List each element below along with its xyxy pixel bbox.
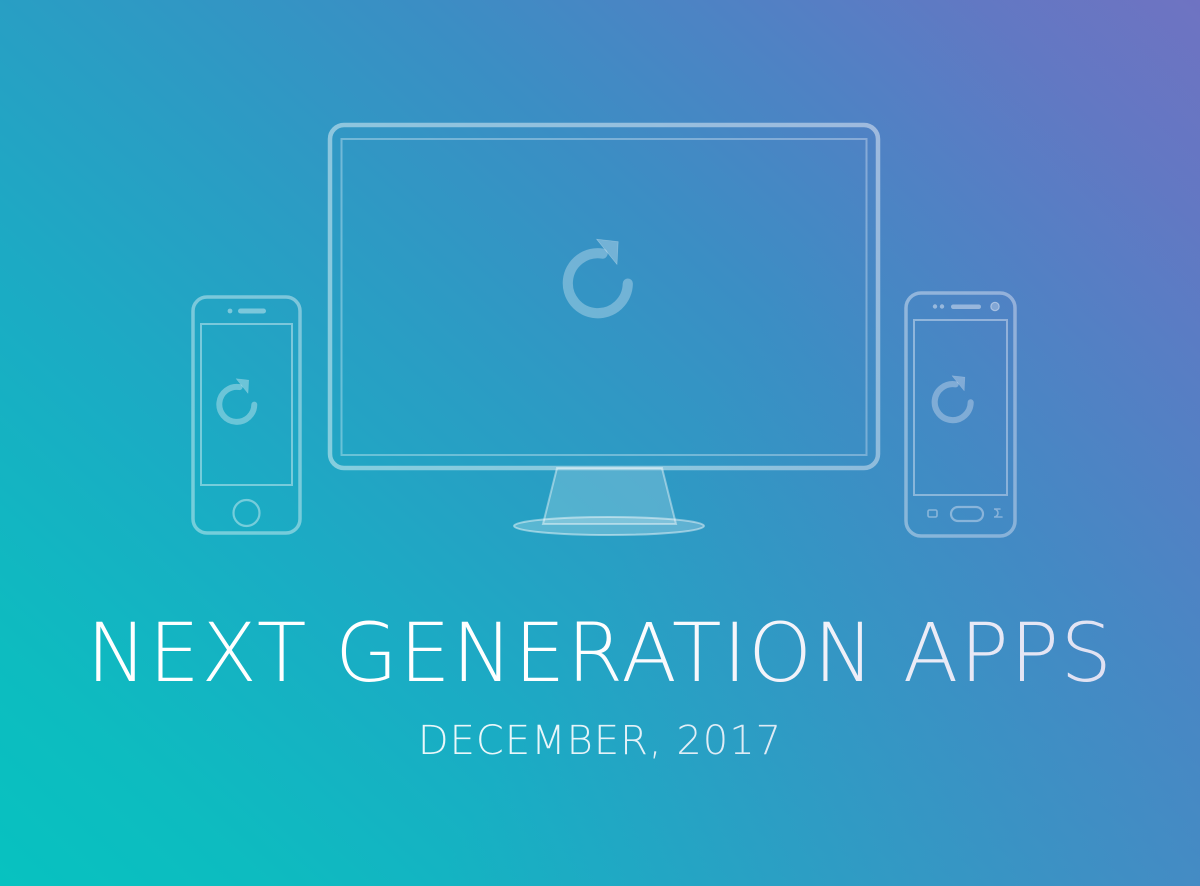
poster-canvas: NEXT GENERATION APPS DECEMBER, 2017	[0, 0, 1200, 886]
monitor-base	[514, 517, 704, 535]
iphone-body	[193, 297, 300, 533]
android-back-button	[994, 509, 1002, 517]
android-screen-refresh-icon	[935, 376, 971, 420]
android-sensor-dot-1	[933, 304, 937, 308]
android-home-button	[951, 507, 983, 521]
iphone-home-button	[234, 500, 260, 526]
android-speaker-slot	[951, 305, 981, 310]
devices-svg	[0, 0, 1200, 600]
monitor-screen	[342, 139, 867, 455]
android-device	[906, 293, 1015, 536]
android-screen	[914, 320, 1007, 495]
android-body	[906, 293, 1015, 536]
iphone-screen	[201, 324, 292, 485]
device-illustration-group	[0, 0, 1200, 600]
monitor-screen-refresh-icon	[568, 239, 628, 313]
desktop-monitor	[330, 125, 878, 535]
iphone-camera-dot	[228, 309, 233, 314]
monitor-bezel	[330, 125, 878, 468]
page-subtitle: DECEMBER, 2017	[0, 719, 1200, 763]
iphone-screen-refresh-icon	[219, 379, 254, 422]
android-sensor-dot-2	[940, 304, 944, 308]
iphone-device	[193, 297, 300, 533]
iphone-speaker-slot	[238, 309, 266, 314]
android-front-camera	[991, 302, 999, 310]
android-recents-button	[928, 510, 937, 517]
monitor-stand	[543, 468, 676, 524]
caption-block: NEXT GENERATION APPS DECEMBER, 2017	[0, 612, 1200, 763]
page-title: NEXT GENERATION APPS	[0, 612, 1200, 697]
